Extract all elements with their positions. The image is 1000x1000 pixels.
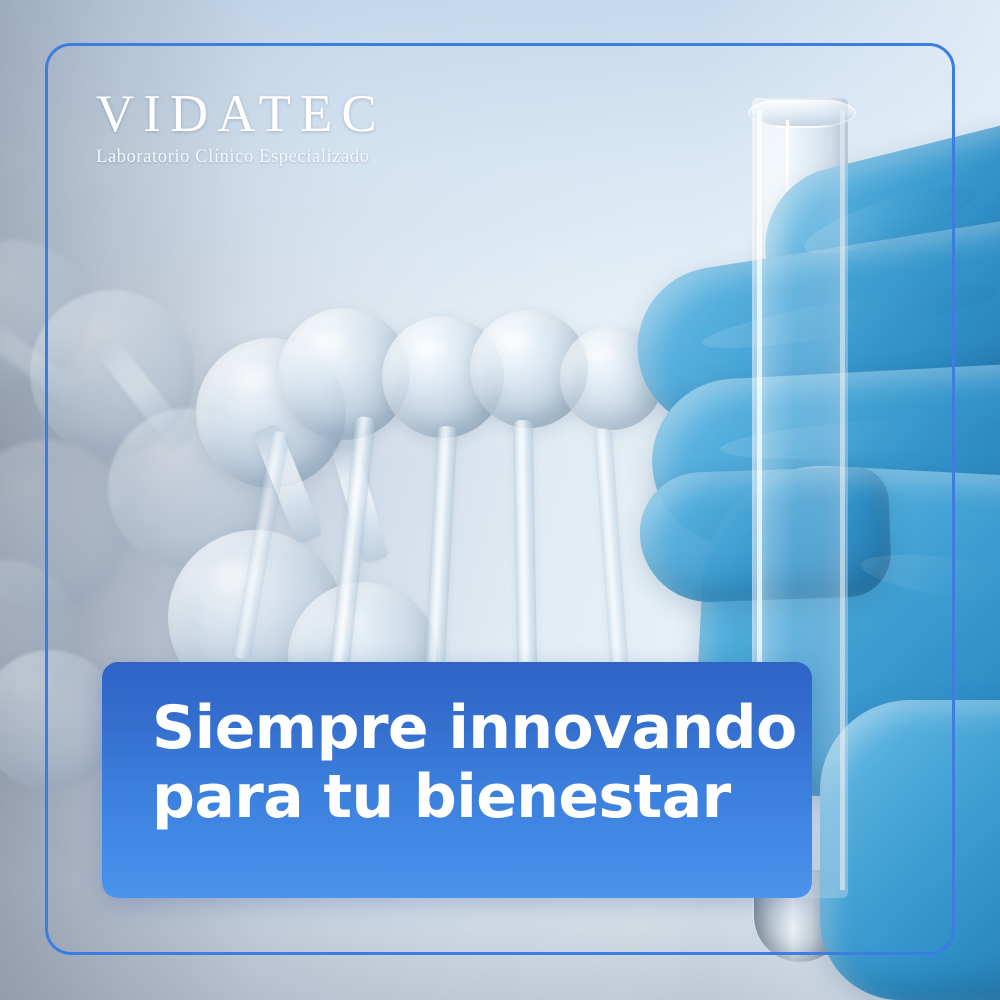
brand-logo: VIDATEC Laboratorio Clínico Especializad… (96, 88, 516, 168)
headline-banner: Siempre innovando para tu bienestar (102, 662, 812, 898)
headline-line-1: Siempre innovando (152, 694, 788, 763)
headline-text: Siempre innovando para tu bienestar (152, 694, 788, 832)
social-post-canvas: VIDATEC Laboratorio Clínico Especializad… (0, 0, 1000, 1000)
brand-name: VIDATEC (96, 88, 516, 141)
brand-tagline: Laboratorio Clínico Especializado (96, 147, 516, 168)
headline-line-2: para tu bienestar (152, 763, 788, 832)
test-tube-right-edge (840, 110, 845, 890)
